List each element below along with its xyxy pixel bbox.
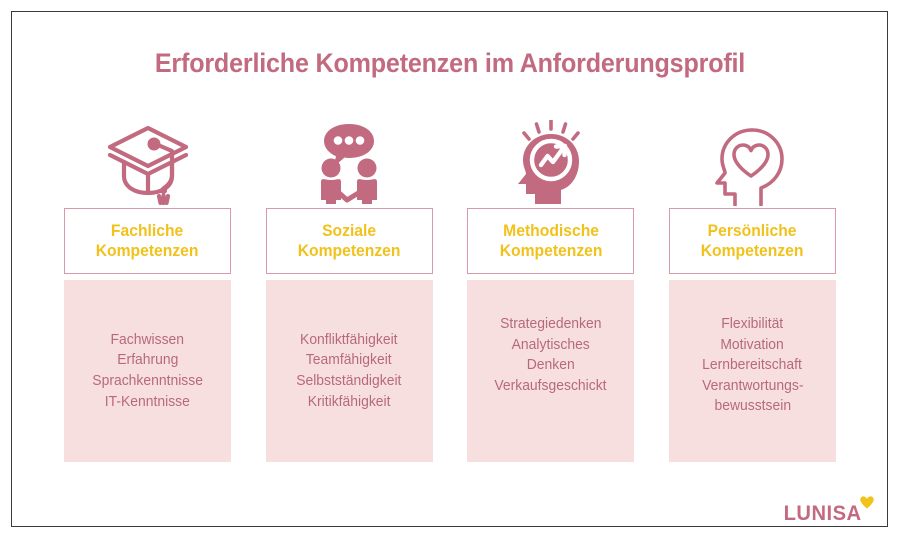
column-header-text: Methodische Kompetenzen [499, 221, 602, 261]
skill-item: Verkaufsgeschickt [495, 376, 607, 397]
column-header-line2: Kompetenzen [298, 241, 401, 261]
skill-item: Motivation [721, 335, 784, 356]
logo-text: LUNISA [783, 503, 861, 524]
column-header-box: Soziale Kompetenzen [266, 208, 433, 274]
column-header-box: Methodische Kompetenzen [467, 208, 634, 274]
infographic-canvas: Erforderliche Kompetenzen im Anforderung… [0, 0, 900, 540]
skill-item: Sprachkenntnisse [92, 371, 203, 392]
column-header-box: Fachliche Kompetenzen [64, 208, 231, 274]
skill-item: Strategiedenken [500, 314, 601, 335]
skill-item: Konfliktfähigkeit [300, 330, 398, 351]
column-header-box: Persönliche Kompetenzen [669, 208, 836, 274]
lunisa-logo: LUNISA [782, 503, 874, 524]
page-title: Erforderliche Kompetenzen im Anforderung… [32, 48, 869, 79]
column-header-line1: Persönliche [701, 221, 804, 241]
head-with-chart-arrow-icon [467, 112, 634, 208]
skill-item: Lernbereitschaft [703, 355, 803, 376]
skill-item: Kritikfähigkeit [308, 392, 391, 413]
competency-column-persoenliche: Persönliche Kompetenzen Flexibilität Mot… [669, 112, 836, 462]
skill-item: Selbstständigkeit [297, 371, 402, 392]
skill-item: Erfahrung [117, 350, 178, 371]
skill-item: Flexibilität [722, 314, 784, 335]
competency-column-soziale: Soziale Kompetenzen Konfliktfähigkeit Te… [266, 112, 433, 462]
column-skill-list: Strategiedenken Analytisches Denken Verk… [467, 280, 634, 462]
skill-item: Teamfähigkeit [306, 350, 392, 371]
column-header-text: Soziale Kompetenzen [298, 221, 401, 261]
head-with-heart-icon [669, 112, 836, 208]
skill-item: Fachwissen [111, 330, 185, 351]
column-header-line1: Soziale [298, 221, 401, 241]
column-skill-list: Flexibilität Motivation Lernbereitschaft… [669, 280, 836, 462]
column-skill-list: Konfliktfähigkeit Teamfähigkeit Selbstst… [266, 280, 433, 462]
column-header-line2: Kompetenzen [701, 241, 804, 261]
column-header-line1: Methodische [499, 221, 602, 241]
competency-column-fachliche: Fachliche Kompetenzen Fachwissen Erfahru… [64, 112, 231, 462]
two-people-speech-bubble-icon [266, 112, 433, 208]
skill-item: Verantwortungs- bewusstsein [702, 376, 803, 417]
competency-column-methodische: Methodische Kompetenzen Strategiedenken … [467, 112, 634, 462]
competency-columns: Fachliche Kompetenzen Fachwissen Erfahru… [64, 112, 836, 462]
column-header-line2: Kompetenzen [96, 241, 199, 261]
column-header-line2: Kompetenzen [499, 241, 602, 261]
column-header-text: Persönliche Kompetenzen [701, 221, 804, 261]
column-header-text: Fachliche Kompetenzen [96, 221, 199, 261]
column-header-line1: Fachliche [96, 221, 199, 241]
heart-icon [860, 496, 874, 514]
column-skill-list: Fachwissen Erfahrung Sprachkenntnisse IT… [64, 280, 231, 462]
graduation-cap-icon [64, 112, 231, 208]
skill-item: IT-Kenntnisse [105, 392, 190, 413]
skill-item: Analytisches Denken [512, 335, 590, 376]
